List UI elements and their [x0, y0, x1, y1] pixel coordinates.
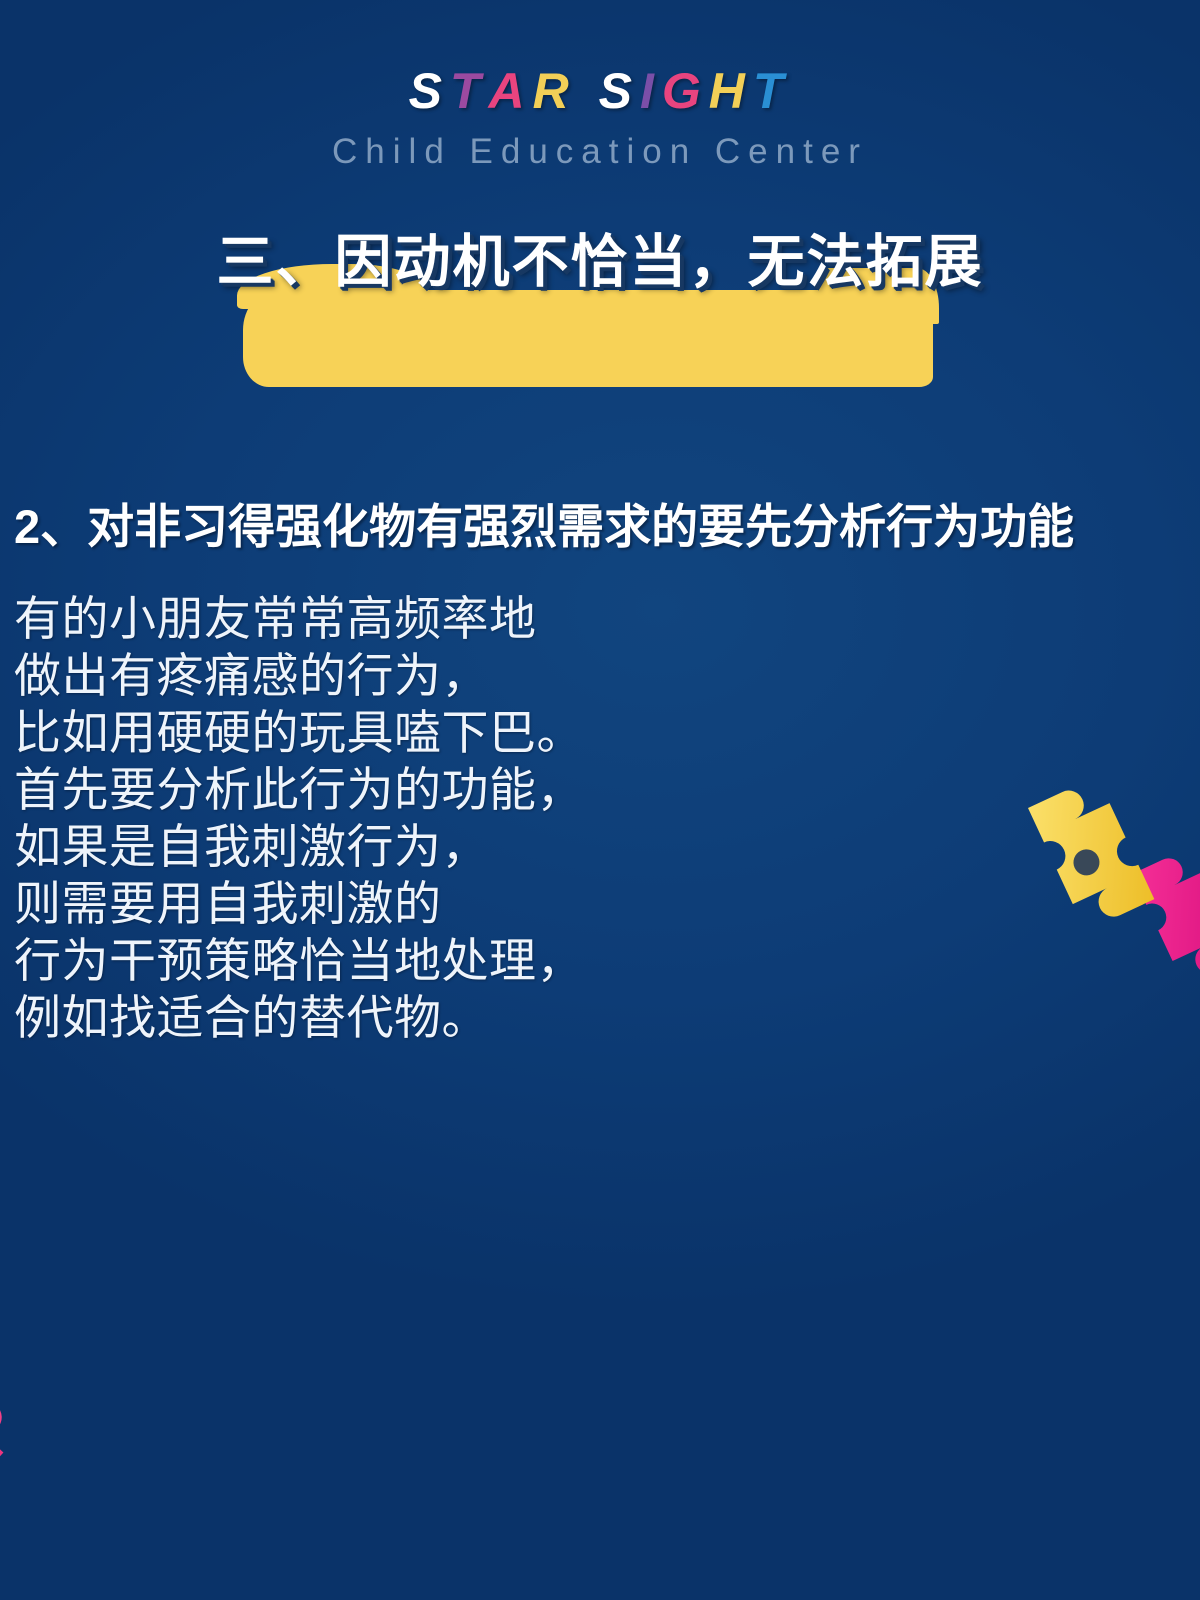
body-line: 如果是自我刺激行为，: [14, 818, 1014, 875]
section-headline: 三、因动机不恰当，无法拓展: [0, 228, 1200, 296]
brand-letter: [577, 66, 599, 116]
brand-letter: S: [409, 66, 450, 116]
brand-header: STAR SIGHT Child Education Center: [0, 66, 1200, 169]
brand-title: STAR SIGHT: [0, 66, 1200, 116]
body-line: 做出有疼痛感的行为，: [14, 647, 1014, 704]
brand-letter: H: [709, 66, 753, 116]
body-line: 有的小朋友常常高频率地: [14, 590, 1014, 647]
brand-letter: T: [450, 66, 489, 116]
brand-letter: R: [533, 66, 577, 116]
brand-letter: G: [662, 66, 709, 116]
body-paragraph: 有的小朋友常常高频率地做出有疼痛感的行为，比如用硬硬的玩具嗑下巴。首先要分析此行…: [14, 590, 1014, 1046]
point-subheading: 2、对非习得强化物有强烈需求的要先分析行为功能: [14, 500, 1194, 554]
brand-letter: T: [753, 66, 792, 116]
puzzle-piece-bottom-left-icon: [0, 1378, 184, 1600]
headline-section: 三、因动机不恰当，无法拓展: [0, 228, 1200, 403]
body-line: 则需要用自我刺激的: [14, 875, 1014, 932]
yellow-highlight-brush: [243, 290, 933, 387]
body-line: 行为干预策略恰当地处理，: [14, 932, 1014, 989]
brand-letter: A: [488, 66, 532, 116]
brand-subtitle: Child Education Center: [0, 134, 1200, 169]
poster-canvas: STAR SIGHT Child Education Center 三、因动机不…: [0, 0, 1200, 1600]
body-line: 首先要分析此行为的功能，: [14, 761, 1014, 818]
body-line: 比如用硬硬的玩具嗑下巴。: [14, 704, 1014, 761]
body-line: 例如找适合的替代物。: [14, 989, 1014, 1046]
puzzle-piece-right-icon: [1014, 778, 1200, 988]
brand-letter: I: [640, 66, 662, 116]
brand-letter: S: [599, 66, 640, 116]
